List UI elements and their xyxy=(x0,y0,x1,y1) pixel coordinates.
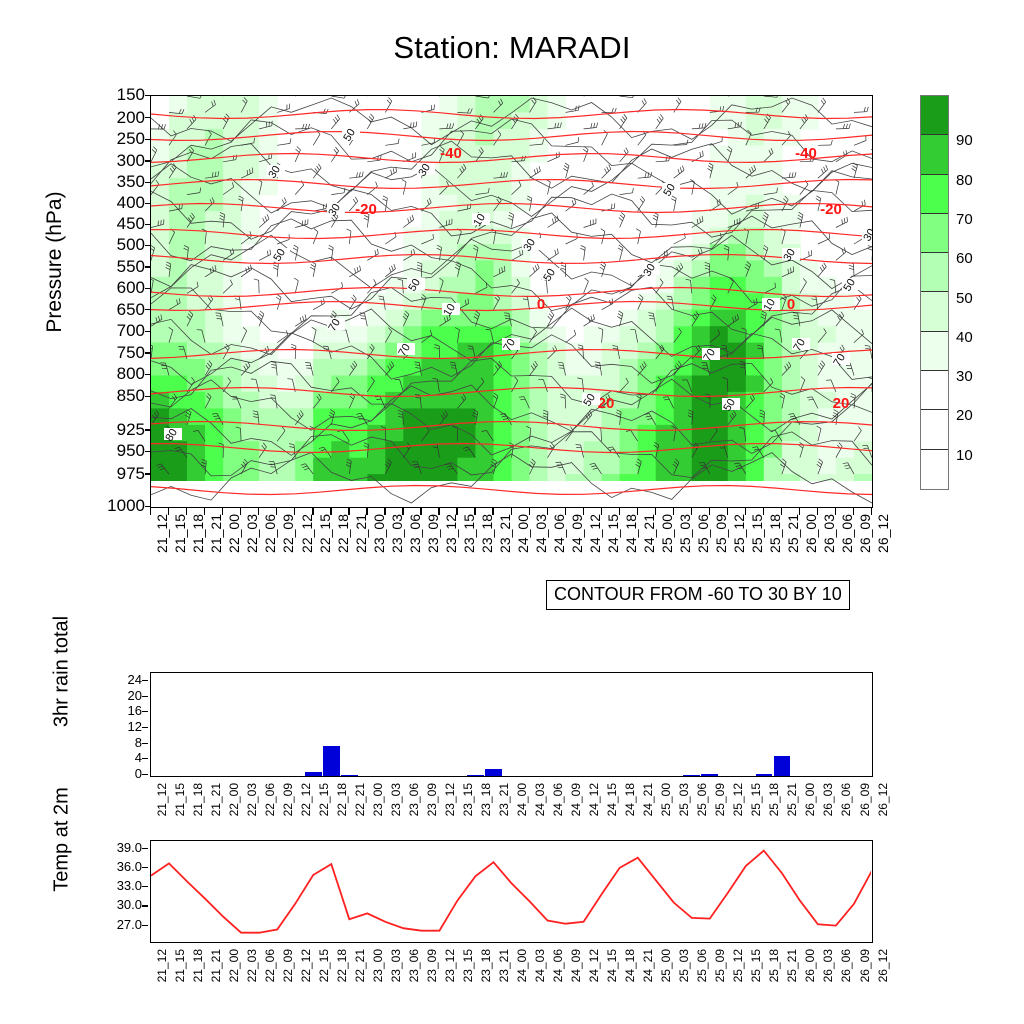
pressure-tick-label: 650 xyxy=(117,301,145,318)
time-tick-label: 25_12 xyxy=(731,783,745,816)
time-tick xyxy=(547,508,548,515)
time-tick-label: 23_12 xyxy=(443,949,457,982)
time-tick-label: 23_03 xyxy=(390,514,404,553)
time-tick-label: 23_00 xyxy=(371,949,385,982)
time-tick-label: 22_09 xyxy=(281,949,295,982)
time-tick-label: 25_21 xyxy=(786,514,800,553)
time-tick-label: 24_15 xyxy=(605,783,619,816)
temp-tick xyxy=(142,867,148,868)
time-tick-label: 22_00 xyxy=(227,949,241,982)
time-tick-label: 22_00 xyxy=(227,514,241,553)
time-tick-label: 26_09 xyxy=(858,949,872,982)
time-tick-label: 26_06 xyxy=(839,783,853,816)
time-tick-label: 26_06 xyxy=(840,514,854,553)
temp-tick-label: 27.0 xyxy=(117,918,142,931)
pressure-tick-label: 950 xyxy=(117,442,145,459)
time-tick-label: 22_06 xyxy=(263,514,277,553)
time-tick xyxy=(781,508,782,515)
time-tick-label: 24_21 xyxy=(641,949,655,982)
time-tick-label: 26_09 xyxy=(858,514,872,553)
time-tick xyxy=(420,508,421,515)
svg-text:-40: -40 xyxy=(795,145,817,162)
pressure-tick-label: 925 xyxy=(117,421,145,438)
time-tick-label: 25_21 xyxy=(785,949,799,982)
time-tick-label: 23_06 xyxy=(407,783,421,816)
time-tick-label: 25_06 xyxy=(696,514,710,553)
time-tick xyxy=(853,508,854,515)
rain-tick xyxy=(142,774,148,775)
time-tick-label: 25_00 xyxy=(659,783,673,816)
time-tick-label: 24_18 xyxy=(623,949,637,982)
time-tick-label: 25_18 xyxy=(768,514,782,553)
time-tick-label: 26_03 xyxy=(822,514,836,553)
time-tick-label: 22_18 xyxy=(335,949,349,982)
time-tick-label: 23_18 xyxy=(480,514,494,553)
rain-tick xyxy=(142,680,148,681)
pressure-tick-label: 600 xyxy=(117,279,145,296)
time-tick-label: 24_09 xyxy=(569,949,583,982)
time-tick xyxy=(745,508,746,515)
time-tick-label: 23_15 xyxy=(462,514,476,553)
time-tick xyxy=(366,508,367,515)
time-tick xyxy=(330,508,331,515)
time-tick-label: 24_21 xyxy=(641,783,655,816)
time-tick-label: 23_21 xyxy=(498,514,512,553)
time-tick xyxy=(799,508,800,515)
time-tick-label: 24_15 xyxy=(606,514,620,553)
pressure-tick-label: 975 xyxy=(117,465,145,482)
time-tick xyxy=(240,508,241,515)
rain-xaxis-labels: 21_1221_1521_1821_2122_0022_0322_0622_09… xyxy=(150,781,873,841)
time-tick-label: 21_15 xyxy=(173,783,187,816)
time-tick-label: 25_06 xyxy=(695,783,709,816)
time-tick xyxy=(817,508,818,515)
time-tick xyxy=(294,508,295,515)
time-tick-label: 23_18 xyxy=(479,783,493,816)
time-tick-label: 25_15 xyxy=(750,514,764,553)
pressure-tick-label: 350 xyxy=(117,173,145,190)
time-tick-label: 21_21 xyxy=(209,514,223,553)
time-tick xyxy=(619,508,620,515)
time-tick-label: 25_18 xyxy=(767,783,781,816)
time-tick xyxy=(204,508,205,515)
time-tick-label: 22_09 xyxy=(281,514,295,553)
time-tick-label: 22_09 xyxy=(281,783,295,816)
time-tick-label: 21_18 xyxy=(191,783,205,816)
time-tick-label: 25_09 xyxy=(713,949,727,982)
time-tick-label: 22_12 xyxy=(299,949,313,982)
rain-yaxis-labels: 04812162024 xyxy=(80,672,142,777)
time-tick-label: 22_15 xyxy=(317,783,331,816)
time-tick-label: 22_18 xyxy=(336,514,350,553)
pressure-tick-label: 1000 xyxy=(107,497,145,514)
time-tick-label: 24_12 xyxy=(587,949,601,982)
time-tick-label: 23_03 xyxy=(389,949,403,982)
temperature-series xyxy=(151,841,871,941)
time-tick-label: 23_06 xyxy=(407,949,421,982)
rain-bar[interactable] xyxy=(467,775,484,777)
rain-tick xyxy=(142,727,148,728)
time-tick-label: 23_21 xyxy=(497,783,511,816)
colorbar-tick-label: 80 xyxy=(956,172,973,189)
time-tick-label: 22_18 xyxy=(335,783,349,816)
temp-tick xyxy=(142,886,148,887)
svg-text:-20: -20 xyxy=(820,201,842,218)
time-tick-label: 24_09 xyxy=(569,783,583,816)
time-tick-label: 25_15 xyxy=(749,949,763,982)
time-tick xyxy=(709,508,710,515)
rain-bar[interactable] xyxy=(323,746,340,776)
time-tick-label: 22_06 xyxy=(263,949,277,982)
rain-bar[interactable] xyxy=(774,756,791,776)
time-tick-label: 25_06 xyxy=(695,949,709,982)
rain-tick-label: 24 xyxy=(128,673,142,686)
colorbar-tick-label: 10 xyxy=(956,447,973,464)
contour-field: -40-40-20-200020203030507050507030503010… xyxy=(151,96,872,507)
time-tick xyxy=(348,508,349,515)
time-tick-label: 26_09 xyxy=(858,783,872,816)
time-tick-label: 22_00 xyxy=(227,783,241,816)
time-tick-label: 22_15 xyxy=(318,514,332,553)
time-tick-label: 25_15 xyxy=(749,783,763,816)
time-tick-label: 23_15 xyxy=(461,949,475,982)
time-tick-label: 21_12 xyxy=(155,514,169,553)
pressure-tick-label: 750 xyxy=(117,344,145,361)
pressure-tick-label: 800 xyxy=(117,365,145,382)
rain-tick-label: 16 xyxy=(128,704,142,717)
time-tick-label: 21_18 xyxy=(191,514,205,553)
time-tick xyxy=(312,508,313,515)
time-tick xyxy=(601,508,602,515)
temp-tick-label: 30.0 xyxy=(117,898,142,911)
time-tick-label: 23_09 xyxy=(425,949,439,982)
colorbar-tick-label: 40 xyxy=(956,329,973,346)
pressure-tick-label: 450 xyxy=(117,215,145,232)
svg-text:-20: -20 xyxy=(355,201,377,218)
humidity-cross-section-plot[interactable]: -40-40-20-200020203030507050507030503010… xyxy=(150,95,873,508)
pressure-tick-label: 250 xyxy=(117,130,145,147)
time-tick-label: 23_21 xyxy=(497,949,511,982)
main-yaxis-labels: 1502002503003504004505005506006507007508… xyxy=(60,95,145,508)
time-tick-label: 24_00 xyxy=(515,949,529,982)
pressure-tick-label: 150 xyxy=(117,86,145,103)
time-tick-label: 26_12 xyxy=(876,783,890,816)
time-tick-label: 25_03 xyxy=(677,949,691,982)
pressure-tick-label: 400 xyxy=(117,194,145,211)
time-tick-label: 21_15 xyxy=(173,949,187,982)
time-tick xyxy=(384,508,385,515)
time-tick-label: 25_00 xyxy=(660,514,674,553)
time-tick-label: 25_12 xyxy=(731,949,745,982)
rain-bar[interactable] xyxy=(305,772,322,776)
time-tick-label: 26_00 xyxy=(803,783,817,816)
rain-bar[interactable] xyxy=(683,775,700,777)
time-tick-label: 23_09 xyxy=(425,783,439,816)
rain-tick-label: 0 xyxy=(135,767,142,780)
time-tick xyxy=(727,508,728,515)
svg-text:0: 0 xyxy=(787,296,795,313)
time-tick-label: 23_00 xyxy=(371,783,385,816)
rain-tick-label: 20 xyxy=(128,689,142,702)
time-tick-label: 21_21 xyxy=(209,949,223,982)
time-tick xyxy=(474,508,475,515)
main-xaxis-labels: 21_1221_1521_1821_2122_0022_0322_0622_09… xyxy=(150,512,873,572)
time-tick xyxy=(583,508,584,515)
time-tick xyxy=(168,508,169,515)
time-tick-label: 22_06 xyxy=(263,783,277,816)
svg-text:0: 0 xyxy=(537,296,545,313)
time-tick-label: 23_00 xyxy=(372,514,386,553)
time-tick-label: 24_12 xyxy=(588,514,602,553)
time-tick-label: 24_09 xyxy=(570,514,584,553)
time-tick xyxy=(492,508,493,515)
rain-tick xyxy=(142,758,148,759)
time-tick xyxy=(565,508,566,515)
time-tick xyxy=(186,508,187,515)
time-tick-label: 25_03 xyxy=(678,514,692,553)
time-tick xyxy=(438,508,439,515)
colorbar-tick-label: 70 xyxy=(956,211,973,228)
time-tick-label: 21_18 xyxy=(191,949,205,982)
time-tick xyxy=(655,508,656,515)
time-tick-label: 25_09 xyxy=(714,514,728,553)
time-tick xyxy=(871,508,872,515)
time-tick xyxy=(637,508,638,515)
pressure-tick-label: 500 xyxy=(117,236,145,253)
time-tick-label: 21_21 xyxy=(209,783,223,816)
colorbar-labels: 908070605040302010 xyxy=(920,95,1010,490)
time-tick-label: 23_06 xyxy=(408,514,422,553)
pressure-tick-label: 300 xyxy=(117,152,145,169)
temp-tick xyxy=(142,925,148,926)
pressure-tick-label: 200 xyxy=(117,109,145,126)
time-tick xyxy=(222,508,223,515)
contour-caption: CONTOUR FROM -60 TO 30 BY 10 xyxy=(546,580,850,610)
rain-tick-label: 12 xyxy=(128,720,142,733)
time-tick xyxy=(763,508,764,515)
time-tick-label: 22_12 xyxy=(299,783,313,816)
pressure-tick-label: 850 xyxy=(117,387,145,404)
svg-text:-40: -40 xyxy=(440,145,462,162)
time-tick-label: 26_06 xyxy=(839,949,853,982)
time-tick-label: 24_06 xyxy=(551,949,565,982)
temperature-line-chart[interactable] xyxy=(150,840,873,943)
colorbar-tick-label: 50 xyxy=(956,290,973,307)
rain-tick-label: 4 xyxy=(135,751,142,764)
time-tick xyxy=(402,508,403,515)
rain-tick xyxy=(142,711,148,712)
time-tick-label: 24_18 xyxy=(623,783,637,816)
rain-tick-label: 8 xyxy=(135,736,142,749)
time-tick-label: 23_12 xyxy=(444,514,458,553)
time-tick-label: 26_03 xyxy=(821,783,835,816)
rain-bar[interactable] xyxy=(756,774,773,776)
time-tick-label: 23_15 xyxy=(461,783,475,816)
time-tick-label: 21_15 xyxy=(173,514,187,553)
time-tick-label: 25_12 xyxy=(732,514,746,553)
time-tick-label: 24_00 xyxy=(516,514,530,553)
time-tick-label: 24_03 xyxy=(533,949,547,982)
temp-tick xyxy=(142,905,148,906)
time-tick-label: 23_03 xyxy=(389,783,403,816)
pressure-tick-label: 700 xyxy=(117,322,145,339)
time-tick-label: 26_12 xyxy=(876,514,890,553)
time-tick-label: 24_18 xyxy=(624,514,638,553)
time-tick-label: 22_21 xyxy=(353,783,367,816)
time-tick-label: 26_00 xyxy=(804,514,818,553)
colorbar-tick-label: 60 xyxy=(956,250,973,267)
time-tick-label: 23_12 xyxy=(443,783,457,816)
rain-tick xyxy=(142,696,148,697)
svg-text:20: 20 xyxy=(598,395,615,412)
time-tick xyxy=(258,508,259,515)
time-tick-label: 24_15 xyxy=(605,949,619,982)
time-tick-label: 22_12 xyxy=(300,514,314,553)
pressure-tick-label: 550 xyxy=(117,258,145,275)
time-tick xyxy=(835,508,836,515)
time-tick-label: 22_21 xyxy=(353,949,367,982)
rain-bar[interactable] xyxy=(485,769,502,776)
time-tick-label: 24_06 xyxy=(551,783,565,816)
time-tick-label: 24_00 xyxy=(515,783,529,816)
time-tick-label: 23_09 xyxy=(426,514,440,553)
time-tick-label: 21_12 xyxy=(155,783,169,816)
rain-tick xyxy=(142,743,148,744)
time-tick-label: 25_21 xyxy=(785,783,799,816)
rain-bar[interactable] xyxy=(701,774,718,776)
time-tick-label: 26_00 xyxy=(803,949,817,982)
temp-yaxis-title: Temp at 2m xyxy=(51,710,74,970)
time-tick-label: 23_18 xyxy=(479,949,493,982)
svg-text:20: 20 xyxy=(833,395,850,412)
colorbar-tick-label: 30 xyxy=(956,368,973,385)
colorbar-tick-label: 90 xyxy=(956,132,973,149)
time-tick-label: 25_03 xyxy=(677,783,691,816)
time-tick-label: 26_12 xyxy=(876,949,890,982)
time-tick xyxy=(529,508,530,515)
time-tick-label: 22_03 xyxy=(245,949,259,982)
temp-yaxis-labels: 27.030.033.036.039.0 xyxy=(80,840,142,943)
time-tick-label: 24_06 xyxy=(552,514,566,553)
time-tick-label: 26_03 xyxy=(821,949,835,982)
temp-tick-label: 36.0 xyxy=(117,860,142,873)
time-tick xyxy=(150,508,151,515)
rain-bar[interactable] xyxy=(341,775,358,777)
time-tick xyxy=(673,508,674,515)
rain-bar-chart[interactable] xyxy=(150,672,873,777)
time-tick-label: 22_21 xyxy=(354,514,368,553)
page-title: Station: MARADI xyxy=(0,30,1024,66)
time-tick-label: 22_15 xyxy=(317,949,331,982)
time-tick-label: 24_03 xyxy=(533,783,547,816)
time-tick-label: 22_03 xyxy=(245,514,259,553)
colorbar-tick-label: 20 xyxy=(956,407,973,424)
time-tick xyxy=(691,508,692,515)
temp-xaxis-labels: 21_1221_1521_1821_2122_0022_0322_0622_09… xyxy=(150,947,873,1007)
time-tick-label: 24_12 xyxy=(587,783,601,816)
temp-tick-label: 33.0 xyxy=(117,879,142,892)
main-xaxis-ticks xyxy=(150,508,873,516)
temp-tick-label: 39.0 xyxy=(117,841,142,854)
time-tick-label: 25_18 xyxy=(767,949,781,982)
time-tick-label: 24_03 xyxy=(534,514,548,553)
time-tick-label: 21_12 xyxy=(155,949,169,982)
time-tick xyxy=(456,508,457,515)
time-tick-label: 25_09 xyxy=(713,783,727,816)
time-tick xyxy=(276,508,277,515)
time-tick-label: 25_00 xyxy=(659,949,673,982)
temp-tick xyxy=(142,848,148,849)
time-tick-label: 24_21 xyxy=(642,514,656,553)
time-tick-label: 22_03 xyxy=(245,783,259,816)
time-tick xyxy=(511,508,512,515)
